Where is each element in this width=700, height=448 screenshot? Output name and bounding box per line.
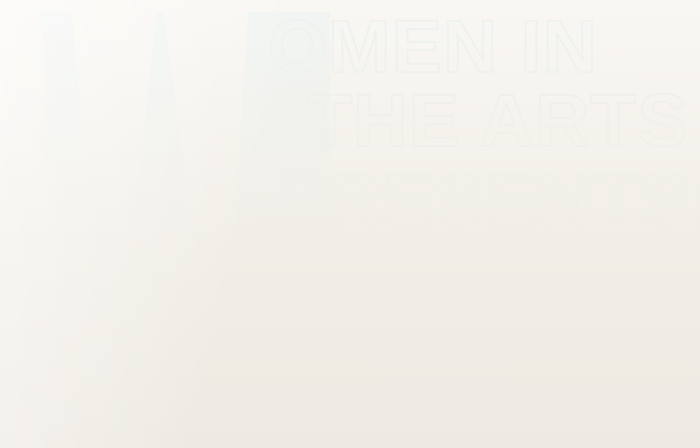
event-title: "Talk to Women Art Dealers" xyxy=(470,268,692,283)
panelist-name: Miani Johnson xyxy=(470,314,692,329)
event-detail-line: 8:00 p.m. in the Amphitheatre xyxy=(259,404,464,419)
panelist-name: Mary Boone xyxy=(470,299,692,314)
sponsor-credit: Sponsored by the SVA Office of Student S… xyxy=(43,0,54,358)
event-title: "Notes from the Moroccan Journals" xyxy=(259,358,464,373)
event-date: TUESDAY, APRIL 9 xyxy=(259,343,464,358)
event-detail-line: 209 E. 23rd Street xyxy=(259,419,464,434)
event-date: THURSDAY, APRIL 11 xyxy=(470,253,692,268)
panelist-name: Holly Solomon xyxy=(470,344,692,359)
event-title: "Womens' Portraits" xyxy=(259,268,464,283)
event-detail-line: by Nancy duPlessis xyxy=(259,389,464,404)
event-detail-line: 8th Floor Gallery xyxy=(259,314,464,329)
poster-canvas: OMEN IN THE ARTS PRESENTS: MONDAY, APRIL… xyxy=(0,0,700,448)
event-detail-line: 7:30 p.m. in the Amphitheatre xyxy=(470,390,692,405)
event-detail-line: 209 E. 23rd Street xyxy=(470,405,692,420)
event-listings: MONDAY, APRIL 8 "Womens' Portraits" Open… xyxy=(0,0,700,448)
event-entry: MONDAY, APRIL 8 "Womens' Portraits" Open… xyxy=(259,253,464,329)
event-detail-line: 380 Second Avenue xyxy=(259,299,464,314)
event-detail-line: A panel discussion with: xyxy=(470,283,692,298)
event-entry: THURSDAY, APRIL 11 "Talk to Women Art De… xyxy=(470,253,692,420)
listings-column-right: THURSDAY, APRIL 11 "Talk to Women Art De… xyxy=(470,253,692,448)
admission-note: Admission is free, open to the public xyxy=(470,437,692,448)
panelist-name: Gracie Mansion xyxy=(470,329,692,344)
event-detail-line: A One Woman Performance xyxy=(259,373,464,388)
event-detail-line: Opening 5:00 - 7:00 p.m. xyxy=(259,283,464,298)
panelist-name: Bernice Steinbaum xyxy=(470,359,692,374)
event-entry: TUESDAY, APRIL 9 "Notes from the Morocca… xyxy=(259,343,464,434)
listings-column-left: MONDAY, APRIL 8 "Womens' Portraits" Open… xyxy=(259,253,464,434)
event-date: MONDAY, APRIL 8 xyxy=(259,253,464,268)
panelist-name: Marjorie Strider, Moderator xyxy=(470,375,692,390)
